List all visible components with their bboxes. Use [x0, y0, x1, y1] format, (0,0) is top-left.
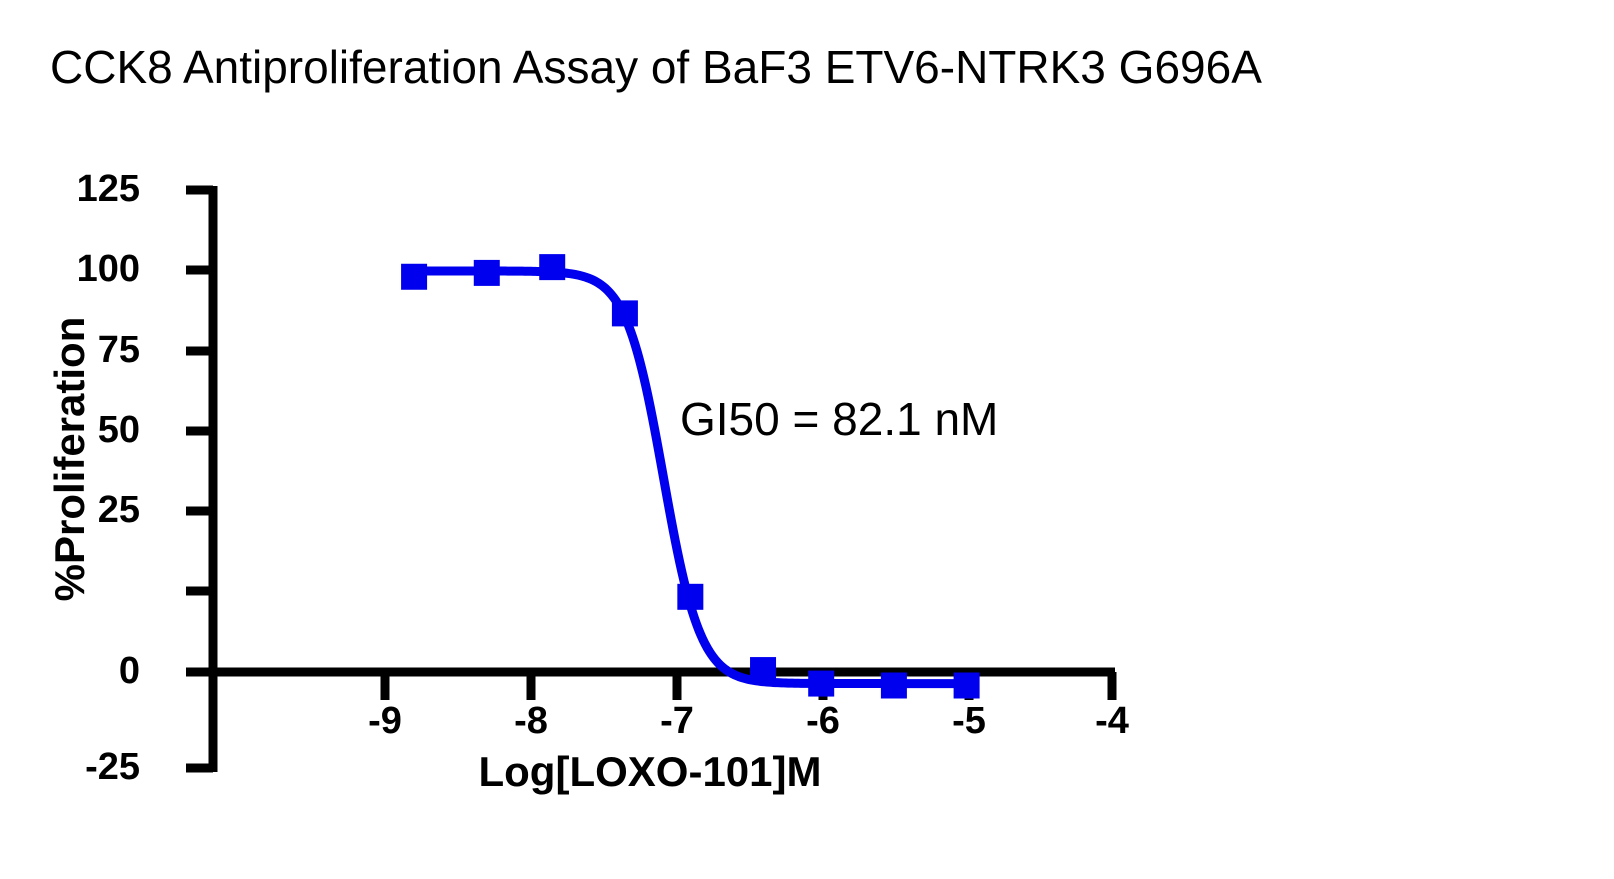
- fit-curve: [414, 271, 967, 684]
- x-tick-label-neg9: -9: [345, 700, 425, 743]
- y-tick-label-neg25: -25: [0, 746, 140, 789]
- data-point-marker: [677, 584, 703, 610]
- data-point-marker: [539, 254, 565, 280]
- data-point-marker: [808, 671, 834, 697]
- data-point-markers: [401, 254, 980, 698]
- data-point-marker: [954, 673, 980, 699]
- data-point-marker: [612, 300, 638, 326]
- y-tick-label-125: 125: [0, 168, 140, 211]
- x-axis-title: Log[LOXO-101]M: [330, 748, 970, 796]
- x-tick-label-neg7: -7: [637, 700, 717, 743]
- x-tick-label-neg4: -4: [1072, 700, 1152, 743]
- x-tick-label-neg8: -8: [491, 700, 571, 743]
- x-tick-label-neg5: -5: [929, 700, 1009, 743]
- x-tick-label-neg6: -6: [783, 700, 863, 743]
- chart-figure: CCK8 Antiproliferation Assay of BaF3 ETV…: [0, 0, 1614, 879]
- data-point-marker: [750, 657, 776, 683]
- gi50-annotation: GI50 = 82.1 nM: [680, 392, 998, 446]
- data-point-marker: [401, 264, 427, 290]
- y-axis-title: %Proliferation: [46, 249, 94, 669]
- data-point-marker: [881, 673, 907, 699]
- data-point-marker: [474, 260, 500, 286]
